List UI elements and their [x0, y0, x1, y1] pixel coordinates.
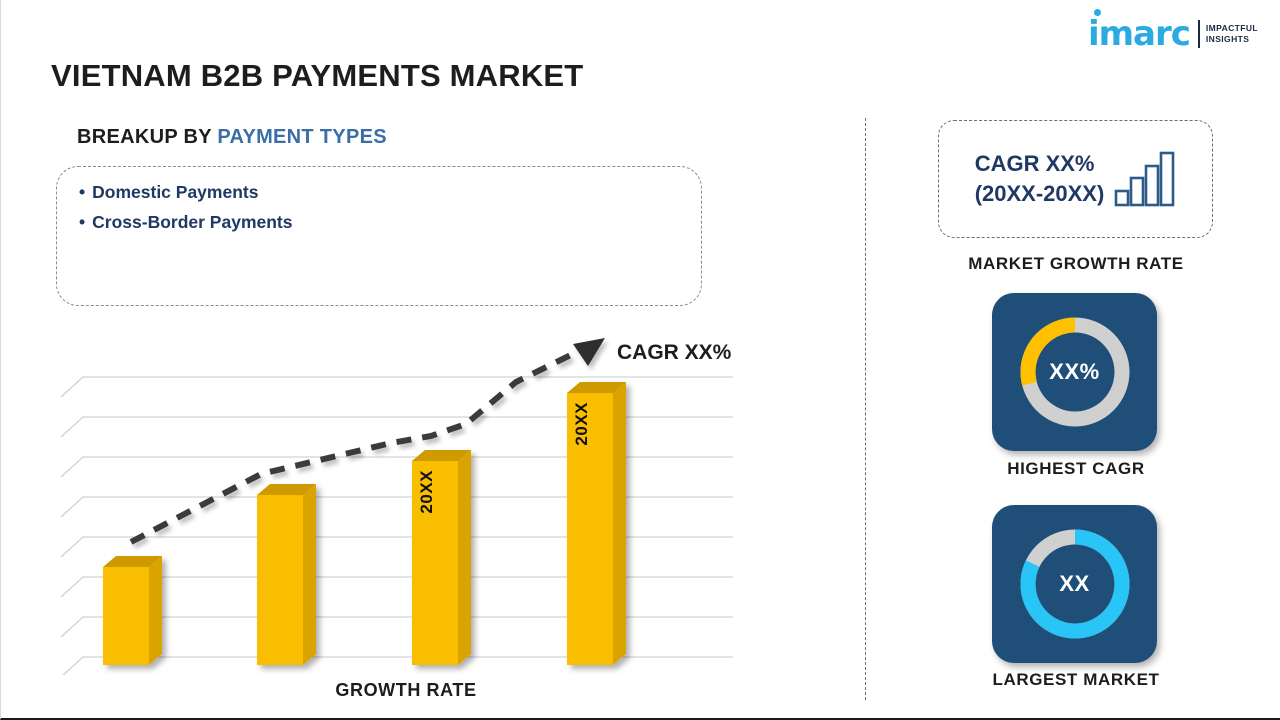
logo-tagline: IMPACTFUL INSIGHTS — [1206, 23, 1258, 45]
logo-divider — [1198, 20, 1200, 48]
chart-trendline — [131, 338, 605, 542]
growth-rate-line2: (20XX-20XX) — [975, 179, 1105, 209]
list-item: Domestic Payments — [79, 177, 701, 207]
caption-market-growth-rate: MARKET GROWTH RATE — [931, 254, 1221, 274]
donut-center-value-market: XX — [1059, 571, 1089, 597]
bar-label-4: 20XX — [572, 402, 592, 446]
imarc-logo: imarc IMPACTFUL INSIGHTS — [1088, 14, 1258, 54]
bar-label-3: 20XX — [417, 470, 437, 514]
chart-bars — [103, 382, 626, 665]
logo-tagline-line1: IMPACTFUL — [1206, 23, 1258, 34]
caption-highest-cagr: HIGHEST CAGR — [931, 459, 1221, 479]
chart-bar-1 — [103, 556, 162, 665]
breakup-heading-prefix: BREAKUP BY — [77, 126, 217, 148]
chart-bar-2 — [257, 484, 316, 665]
growth-bar-chart: CAGR XX% 20XX 20XX — [61, 330, 751, 675]
trendline-arrow-icon — [573, 338, 605, 366]
logo-wordmark: imarc — [1088, 17, 1198, 51]
growth-rate-text: CAGR XX% (20XX-20XX) — [975, 149, 1105, 209]
breakup-heading-highlight: PAYMENT TYPES — [217, 126, 387, 148]
infographic-page: imarc IMPACTFUL INSIGHTS VIETNAM B2B PAY… — [0, 0, 1280, 720]
chart-xaxis-label: GROWTH RATE — [61, 680, 751, 701]
logo-tagline-line2: INSIGHTS — [1206, 34, 1258, 45]
logo-dot-icon — [1094, 9, 1101, 16]
cagr-callout-label: CAGR XX% — [617, 341, 731, 365]
list-item: Cross-Border Payments — [79, 207, 701, 237]
growth-rate-line1: CAGR XX% — [975, 151, 1095, 176]
highest-cagr-tile: XX% — [992, 293, 1157, 451]
chart-svg — [61, 330, 751, 675]
segments-list: Domestic Payments Cross-Border Payments — [57, 167, 701, 237]
market-growth-rate-box: CAGR XX% (20XX-20XX) — [938, 120, 1213, 238]
vertical-divider — [865, 118, 866, 700]
breakup-heading: BREAKUP BY PAYMENT TYPES — [77, 126, 387, 149]
caption-largest-market: LARGEST MARKET — [931, 670, 1221, 690]
logo-wordmark-text: imarc — [1088, 14, 1190, 54]
largest-market-tile: XX — [992, 505, 1157, 663]
page-title: VIETNAM B2B PAYMENTS MARKET — [51, 58, 583, 94]
bar-chart-icon — [1114, 151, 1176, 207]
donut-center-value-cagr: XX% — [1049, 359, 1099, 385]
segments-box: Domestic Payments Cross-Border Payments — [56, 166, 702, 306]
